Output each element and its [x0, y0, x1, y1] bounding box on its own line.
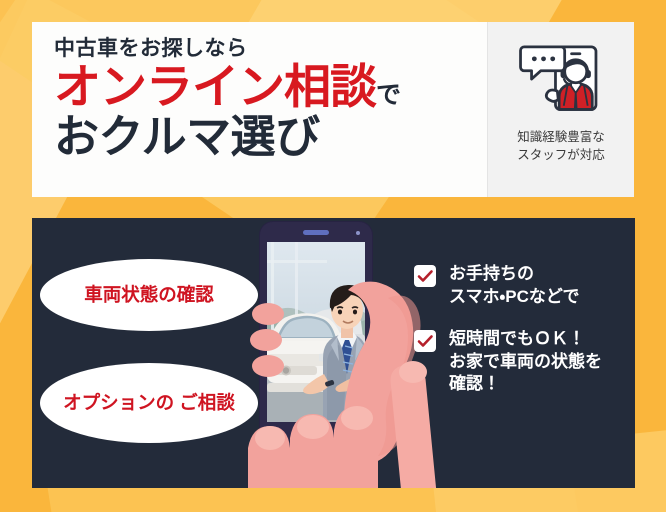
- header-text-block: 中古車をお探しなら オンライン相談で おクルマ選び: [32, 22, 487, 197]
- phone-screen-photo: [267, 242, 365, 422]
- headline-suffix-text: で: [376, 81, 401, 109]
- agent-caption-line-1: 知識経験豊富な: [517, 128, 605, 146]
- checklist-item-text: 短時間でもＯＫ！ お家で車両の状態を 確認！: [449, 328, 602, 396]
- agent-caption-line-2: スタッフが対応: [517, 146, 605, 164]
- header-kicker: 中古車をお探しなら: [54, 38, 487, 59]
- benefit-checklist: お手持ちの スマホ・PCなどで 短時間でもＯＫ！ お家で車両の状態を 確認！: [414, 263, 602, 416]
- checklist-item: お手持ちの スマホ・PCなどで: [414, 263, 602, 308]
- pill-vehicle-condition[interactable]: 車両状態の確認: [40, 259, 258, 331]
- feature-panel: 車両状態の確認 オプションの ご相談 お手持ちの スマホ・PCなどで: [32, 218, 635, 488]
- phone-camera-icon: [356, 231, 360, 235]
- checklist-item-text: お手持ちの スマホ・PCなどで: [449, 263, 580, 308]
- ad-banner: 中古車をお探しなら オンライン相談で おクルマ選び: [0, 0, 666, 512]
- agent-caption: 知識経験豊富な スタッフが対応: [517, 128, 605, 164]
- phone-speaker: [303, 230, 329, 235]
- phone-mockup: [260, 222, 372, 450]
- headset-operator-in-phone-icon: [515, 34, 607, 126]
- pill-option-consultation[interactable]: オプションの ご相談: [40, 363, 258, 443]
- headline-main-text: オンライン相談: [54, 60, 376, 113]
- agent-panel: 知識経験豊富な スタッフが対応: [487, 22, 634, 197]
- checkmark-icon: [414, 330, 436, 352]
- checkmark-icon: [414, 265, 436, 287]
- checklist-item: 短時間でもＯＫ！ お家で車両の状態を 確認！: [414, 328, 602, 396]
- header-headline-secondary: おクルマ選び: [54, 113, 487, 160]
- header-card: 中古車をお探しなら オンライン相談で おクルマ選び: [32, 22, 634, 197]
- salesman-car-photo: [267, 242, 365, 422]
- header-headline-primary: オンライン相談で: [54, 63, 487, 111]
- pill-label: 車両状態の確認: [84, 283, 214, 307]
- phone-home-button: [307, 424, 326, 443]
- pill-label: オプションの ご相談: [63, 391, 235, 415]
